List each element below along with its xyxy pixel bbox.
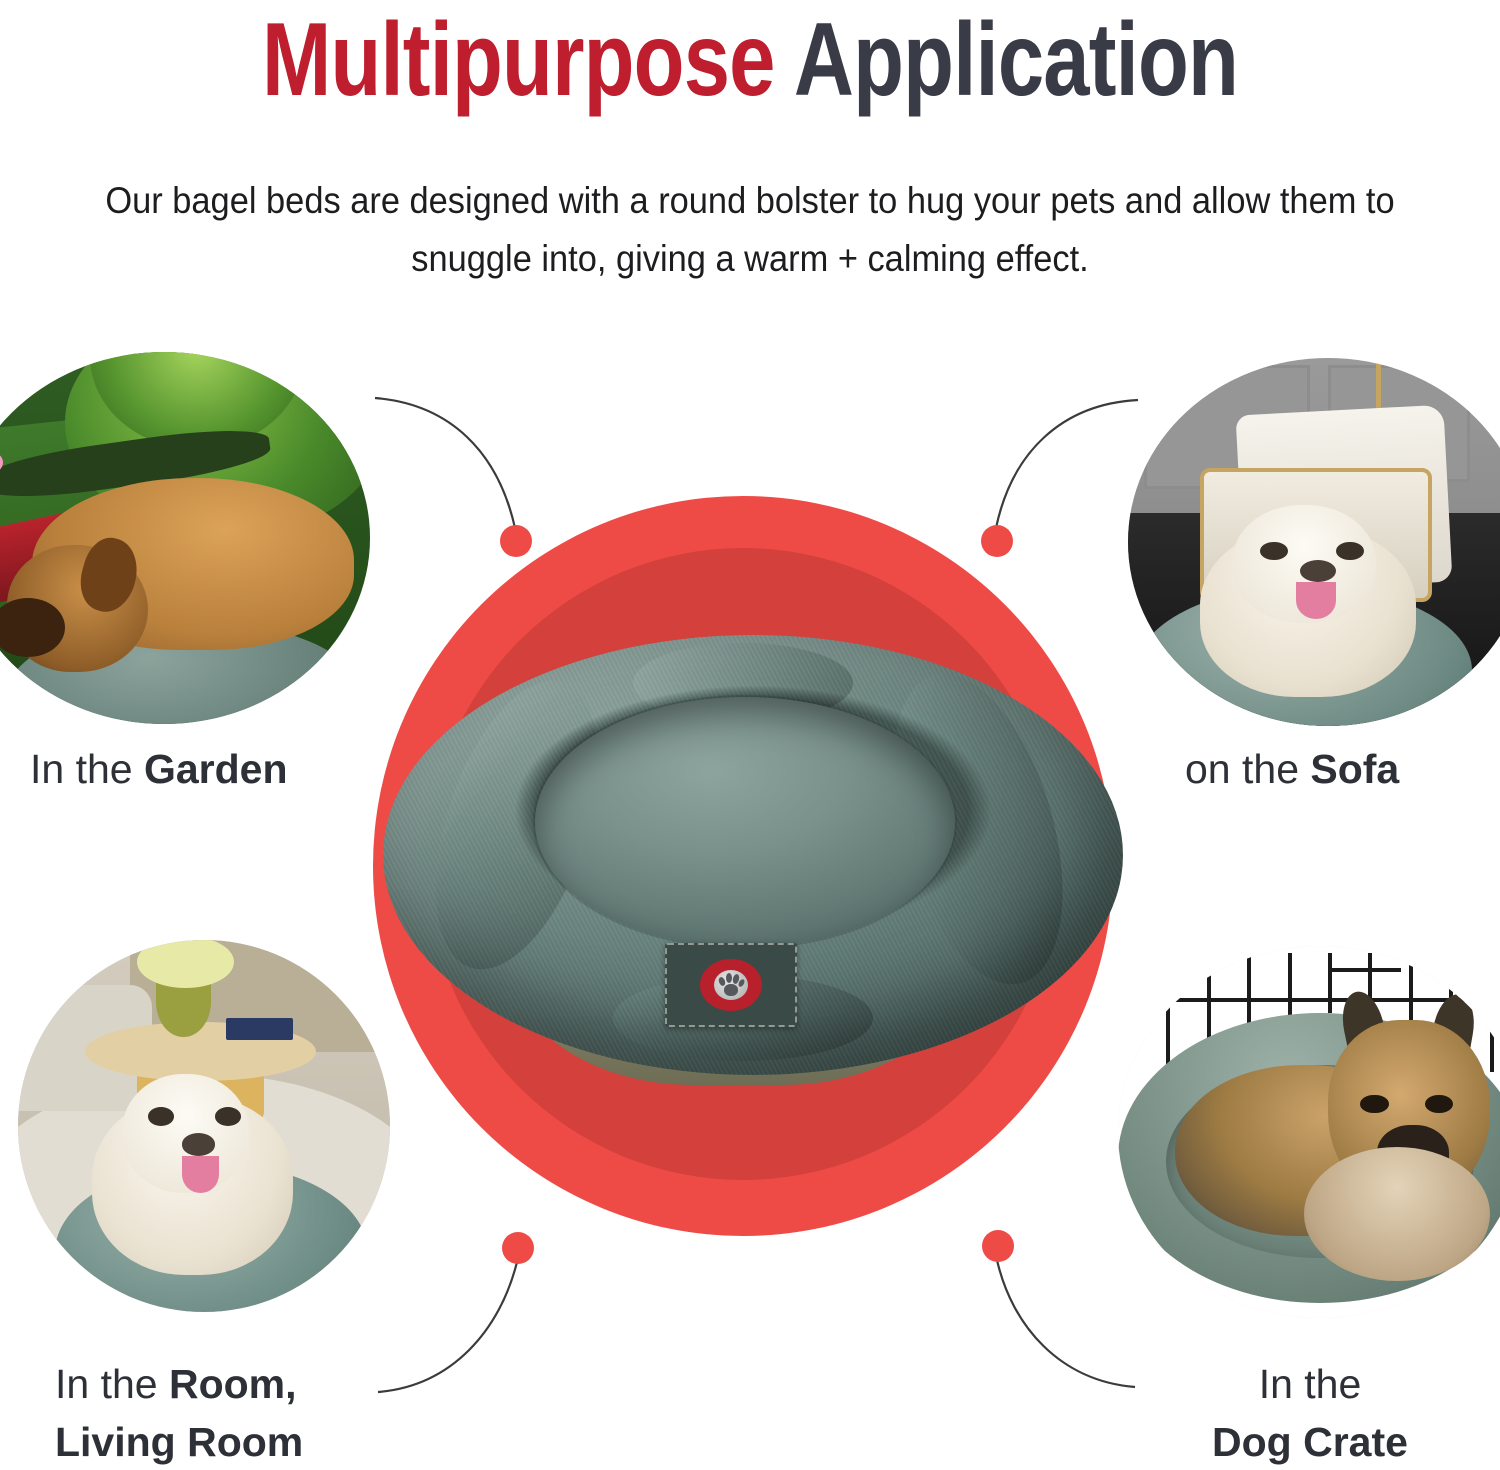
connector-line-dog-crate (997, 1260, 1135, 1387)
callout-label-sofa: on the Sofa (1185, 740, 1399, 798)
callout-label-living-room: In the Room, Living Room (55, 1355, 303, 1470)
hero-bagel-bed (383, 635, 1123, 1135)
callout-label-sofa-bold: Sofa (1310, 746, 1399, 792)
hero-product (365, 470, 1135, 1260)
page-title-accent: Multipurpose (262, 2, 775, 118)
callout-label-garden: In the Garden (30, 740, 288, 798)
callout-label-living-room-bold: Room, (169, 1361, 297, 1407)
callout-photo-dog-crate (1118, 946, 1500, 1318)
page-subtitle: Our bagel beds are designed with a round… (99, 172, 1401, 288)
page-title-secondary: Application (775, 2, 1238, 118)
sofa-scene (1128, 358, 1500, 726)
callout-label-living-room-normal: In the (55, 1361, 169, 1407)
callout-label-dog-crate-bold: Dog Crate (1180, 1413, 1440, 1470)
callout-label-garden-bold: Garden (144, 746, 288, 792)
connector-line-living-room (378, 1262, 517, 1392)
living-room-scene (18, 940, 390, 1312)
callout-label-dog-crate: In the Dog Crate (1180, 1355, 1440, 1470)
infographic-canvas: Multipurpose Application Our bagel beds … (0, 0, 1500, 1470)
page-title: Multipurpose Application (150, 6, 1350, 114)
paw-print-icon (718, 973, 744, 997)
callout-photo-garden (0, 352, 370, 724)
callout-photo-living-room (18, 940, 390, 1312)
brand-tag (665, 943, 797, 1027)
brand-logo-disc (700, 959, 762, 1011)
callout-photo-sofa (1128, 358, 1500, 726)
callout-label-dog-crate-normal: In the (1180, 1355, 1440, 1413)
callout-label-sofa-normal: on the (1185, 746, 1310, 792)
dog-crate-scene (1118, 946, 1500, 1318)
garden-scene (0, 352, 370, 724)
callout-label-living-room-line2: Living Room (55, 1419, 303, 1465)
callout-label-garden-normal: In the (30, 746, 144, 792)
